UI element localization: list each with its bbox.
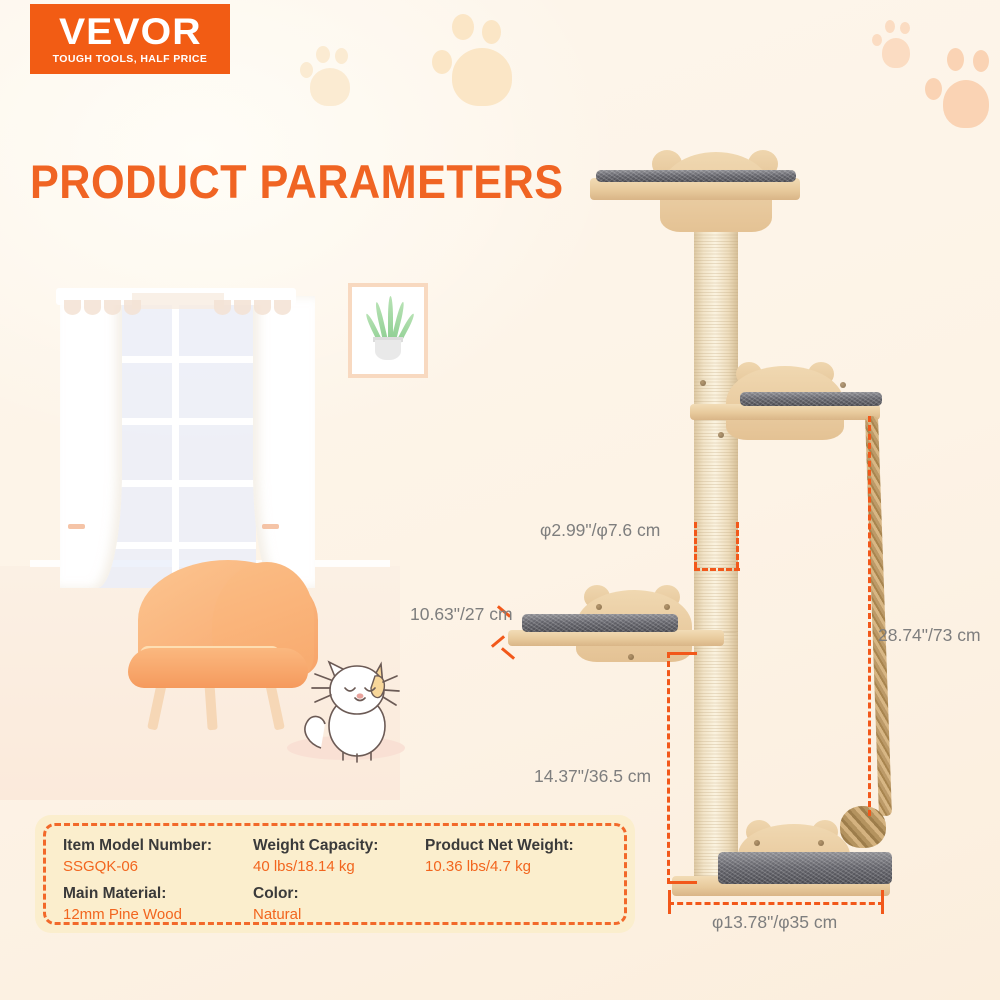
specifications-box: Item Model Number: SSGQK-06 Weight Capac… — [35, 815, 635, 933]
rope-ball — [840, 806, 886, 848]
lower-shelf — [508, 630, 724, 646]
spec-value-model-number: SSGQK-06 — [63, 858, 212, 875]
upper-shelf — [690, 404, 880, 420]
dimension-label-shelf-depth: 10.63"/27 cm — [410, 604, 513, 625]
spec-label-weight-capacity: Weight Capacity: — [253, 837, 378, 855]
dimension-label-shelf-gap: 14.37"/36.5 cm — [534, 766, 651, 787]
infographic-page: VEVOR TOUGH TOOLS, HALF PRICE PRODUCT PA… — [0, 0, 1000, 1000]
upper-shelf-mat — [740, 392, 882, 406]
spec-label-net-weight: Product Net Weight: — [425, 837, 574, 855]
base-mat — [718, 852, 892, 884]
spec-label-color: Color: — [253, 885, 301, 903]
lower-shelf-mat — [522, 614, 678, 632]
top-mat — [596, 170, 796, 182]
dimension-label-post-diameter: φ2.99"/φ7.6 cm — [540, 520, 660, 541]
dimension-label-base-width: φ13.78"/φ35 cm — [712, 912, 837, 933]
dimension-label-rope-length: 28.74"/73 cm — [878, 625, 981, 646]
sisal-post-lower — [694, 632, 738, 884]
spec-value-weight-capacity: 40 lbs/18.14 kg — [253, 858, 378, 875]
spec-label-main-material: Main Material: — [63, 885, 182, 903]
sisal-post-middle — [694, 404, 738, 644]
spec-value-main-material: 12mm Pine Wood — [63, 906, 182, 923]
spec-label-model-number: Item Model Number: — [63, 837, 212, 855]
spec-value-net-weight: 10.36 lbs/4.7 kg — [425, 858, 574, 875]
spec-value-color: Natural — [253, 906, 301, 923]
